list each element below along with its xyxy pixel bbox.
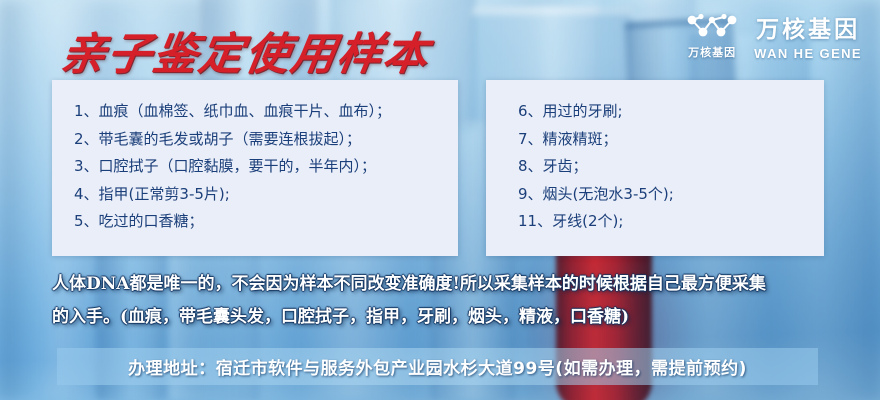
brand-logo: 万核基因 万核基因 WAN HE GENE [684,10,862,61]
list-item: 5、吃过的口香糖； [74,208,448,236]
list-item: 1、血痕（血棉签、纸巾血、血痕干片、血布）； [74,98,448,126]
sample-panel-left: 1、血痕（血棉签、纸巾血、血痕干片、血布）； 2、带毛囊的毛发或胡子（需要连根拔… [52,80,458,256]
logo-mark: 万核基因 [684,12,740,60]
address-band: 办理地址：宿迁市软件与服务外包产业园水杉大道99号(如需办理，需提前预约) [57,348,818,385]
sample-list-right: 6、用过的牙刷; 7、精液精斑； 8、牙齿； 9、烟头(无泡水3-5个); 11… [486,98,824,236]
poster-root: 亲子鉴定使用样本 [0,0,880,400]
list-item: 9、烟头(无泡水3-5个); [518,181,814,209]
list-item: 11、牙线(2个); [518,208,814,236]
note-paragraph: 人体DNA都是唯一的，不会因为样本不同改变准确度!所以采集样本的时候根据自己最方… [52,268,842,334]
list-item: 7、精液精斑； [518,126,814,154]
logo-company-en: WAN HE GENE [754,46,862,61]
sample-panel-right: 6、用过的牙刷; 7、精液精斑； 8、牙齿； 9、烟头(无泡水3-5个); 11… [486,80,824,256]
logo-wordmark: 万核基因 WAN HE GENE [754,10,862,61]
list-item: 4、指甲(正常剪3-5片); [74,181,448,209]
address-text: 办理地址：宿迁市软件与服务外包产业园水杉大道99号(如需办理，需提前预约) [128,354,747,379]
logo-company-cn: 万核基因 [756,10,860,44]
page-title: 亲子鉴定使用样本 [57,18,435,82]
list-item: 8、牙齿； [518,153,814,181]
note-line-2: 的入手。(血痕，带毛囊头发，口腔拭子，指甲，牙刷，烟头，精液，口香糖) [52,301,842,334]
list-item: 2、带毛囊的毛发或胡子（需要连根拔起）； [74,126,448,154]
sample-list-left: 1、血痕（血棉签、纸巾血、血痕干片、血布）； 2、带毛囊的毛发或胡子（需要连根拔… [52,98,458,236]
sample-panels: 1、血痕（血棉签、纸巾血、血痕干片、血布）； 2、带毛囊的毛发或胡子（需要连根拔… [52,80,824,256]
molecule-network-icon [684,12,740,42]
list-item: 6、用过的牙刷; [518,98,814,126]
note-line-1: 人体DNA都是唯一的，不会因为样本不同改变准确度!所以采集样本的时候根据自己最方… [52,268,842,301]
logo-mark-caption: 万核基因 [688,44,736,60]
list-item: 3、口腔拭子（口腔黏膜，要干的，半年内）； [74,153,448,181]
